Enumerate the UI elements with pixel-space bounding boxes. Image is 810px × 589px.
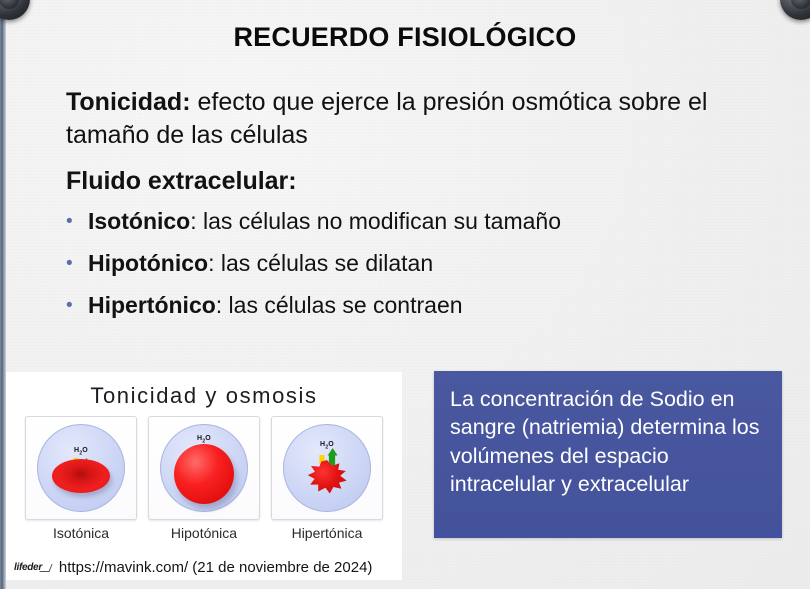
water-label-icon: H2O	[74, 447, 88, 456]
cell-label-hypotonic: Hipotónica	[148, 525, 260, 541]
slide-canvas: RECUERDO FISIOLÓGICO Tonicidad: efecto q…	[0, 0, 810, 589]
list-item-term: Hipertónico	[88, 292, 216, 318]
sodium-callout-text: La concentración de Sodio en sangre (nat…	[450, 385, 766, 499]
binder-screw-top-left-icon	[0, 0, 30, 20]
list-item: • Isotónico: las células no modifican su…	[66, 207, 766, 235]
red-blood-cell-normal-icon	[52, 459, 110, 493]
cell-diagram-isotonic: H2O	[25, 416, 137, 520]
list-item: • Hipertónico: las células se contraen	[66, 291, 766, 319]
list-item-body: Hipotónico: las células se dilatan	[88, 249, 433, 277]
list-item-term: Hipotónico	[88, 250, 208, 276]
red-blood-cell-swollen-icon	[174, 444, 234, 504]
figure-title: Tonicidad y osmosis	[6, 383, 402, 409]
sodium-callout-box: La concentración de Sodio en sangre (nat…	[434, 371, 782, 538]
page-title: RECUERDO FISIOLÓGICO	[0, 22, 810, 53]
cell-diagram-hypotonic: H2O	[148, 416, 260, 520]
cell-diagram-row: H2O H2O	[6, 416, 402, 520]
tonicity-definition: Tonicidad: efecto que ejerce la presión …	[66, 86, 716, 151]
cell-label-isotonic: Isotónica	[25, 525, 137, 541]
cell-label-hypertonic: Hipertónica	[271, 525, 383, 541]
osmosis-figure-panel: Tonicidad y osmosis H2O H2	[6, 372, 402, 580]
left-edge-strip	[0, 0, 6, 589]
bullet-dot-icon: •	[66, 296, 88, 315]
water-label-icon: H2O	[197, 435, 211, 444]
list-item-text: : las células se dilatan	[208, 250, 433, 276]
cell-label-row: Isotónica Hipotónica Hipertónica	[6, 525, 402, 541]
tonicity-bullet-list: • Isotónico: las células no modifican su…	[66, 207, 766, 319]
list-item-body: Hipertónico: las células se contraen	[88, 291, 463, 319]
cell-diagram-hypertonic: H2O	[271, 416, 383, 520]
body-content: Tonicidad: efecto que ejerce la presión …	[66, 86, 766, 333]
list-item-term: Isotónico	[88, 208, 190, 234]
bullet-dot-icon: •	[66, 212, 88, 231]
list-item: • Hipotónico: las células se dilatan	[66, 249, 766, 277]
binder-screw-top-right-icon	[780, 0, 810, 20]
figure-source-line: lifeder https://mavink.com/ (21 de novie…	[6, 559, 402, 576]
list-item-text: : las células no modifican su tamaño	[190, 208, 561, 234]
source-url-text: https://mavink.com/ (21 de noviembre de …	[59, 559, 373, 576]
bullet-dot-icon: •	[66, 254, 88, 273]
list-item-body: Isotónico: las células no modifican su t…	[88, 207, 561, 235]
tonicity-definition-lead: Tonicidad:	[66, 88, 191, 116]
section-heading-fluido-extracelular: Fluido extracelular:	[66, 167, 766, 196]
lifeder-logo: lifeder	[14, 562, 51, 573]
list-item-text: : las células se contraen	[216, 292, 463, 318]
